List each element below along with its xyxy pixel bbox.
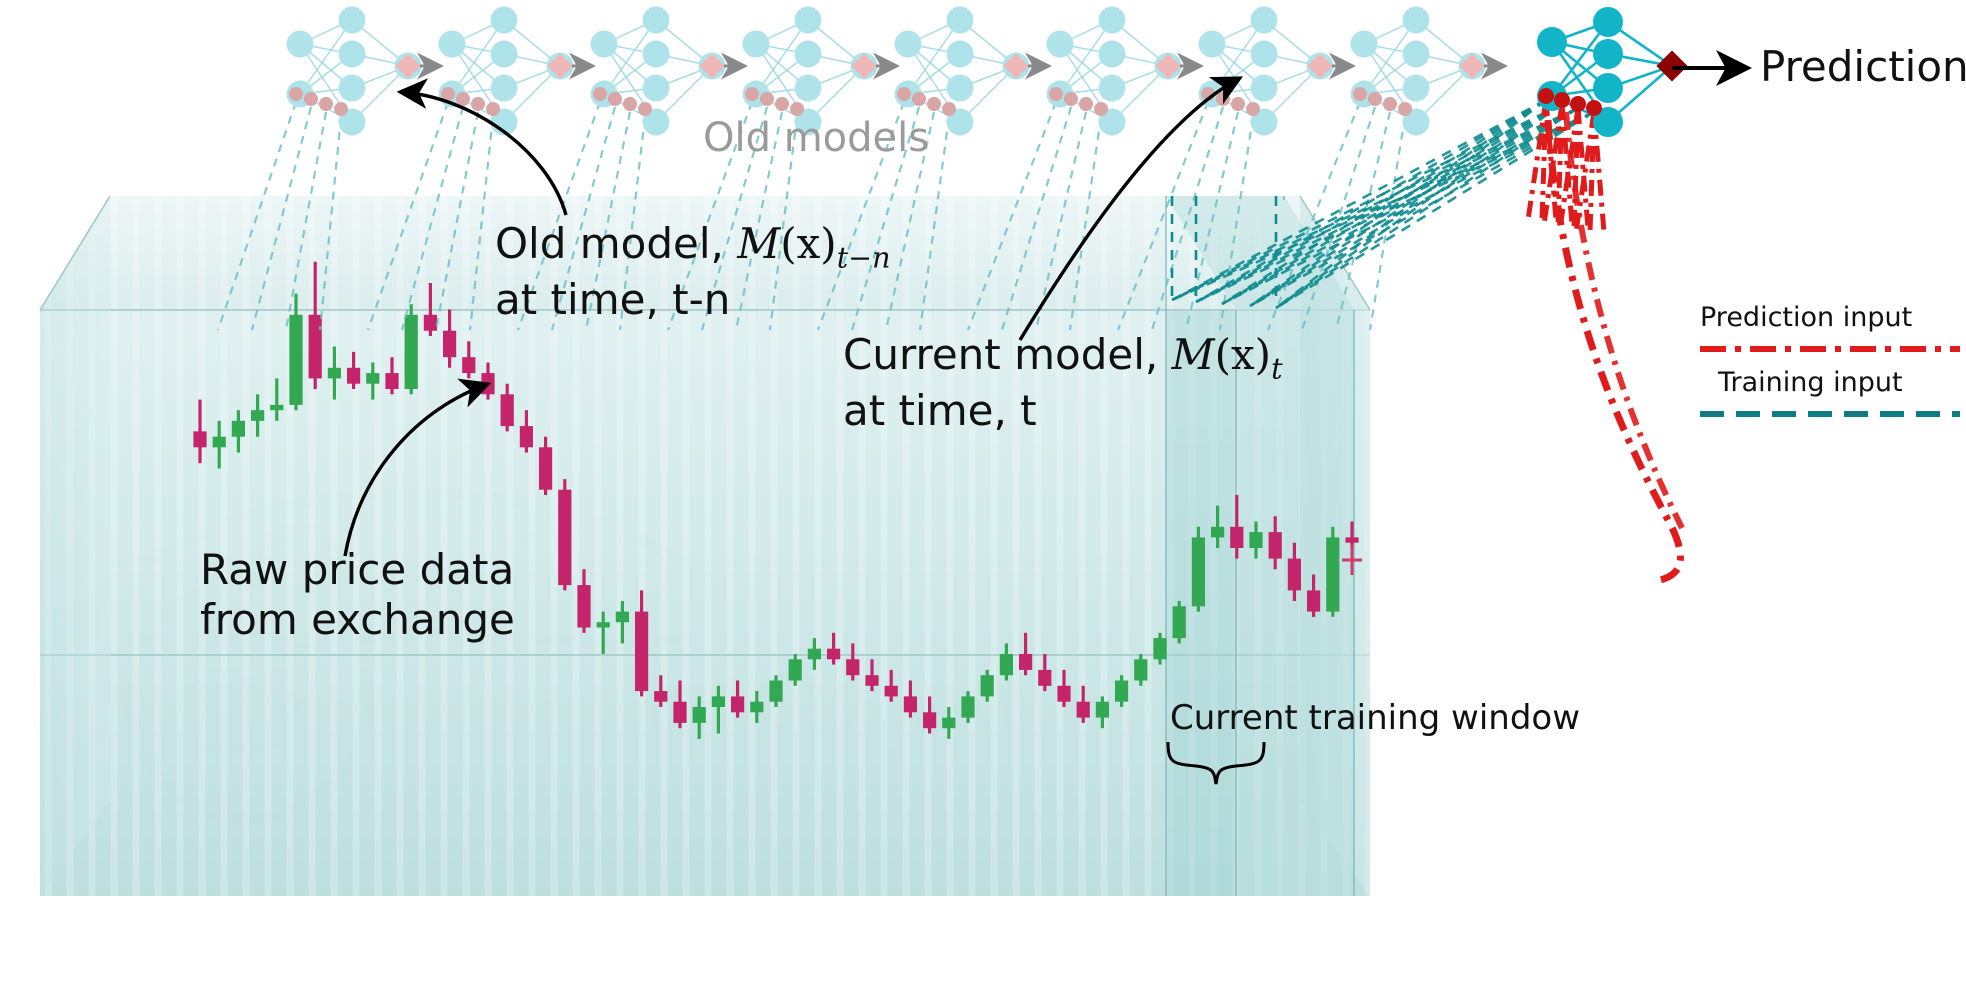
- current-model-annotation: Current model, M(x)t at time, t: [843, 330, 1283, 436]
- raw-price-annotation: Raw price data from exchange: [200, 545, 515, 644]
- current-model-math-fn: M: [1172, 330, 1215, 379]
- freqai-diagram-svg: B FreqAI: [0, 0, 1966, 981]
- old-model-time-line: at time, t-n: [495, 275, 890, 325]
- old-model-text-prefix: Old model,: [495, 219, 737, 268]
- current-model-math-arg: (x): [1215, 330, 1271, 379]
- raw-price-line-2: from exchange: [200, 595, 515, 645]
- current-model-math-sub: t: [1271, 351, 1282, 385]
- prediction-input-lines: [1528, 100, 1682, 580]
- diagram-canvas: B FreqAI: [0, 0, 1966, 981]
- old-models-label: Old models: [703, 115, 929, 162]
- current-model-text-prefix: Current model,: [843, 330, 1172, 379]
- current-model-time-line: at time, t: [843, 386, 1283, 436]
- old-model-annotation: Old model, M(x)t−n at time, t-n: [495, 219, 890, 325]
- training-window-label: Current training window: [1170, 698, 1580, 738]
- legend-label-prediction-input: Prediction input: [1700, 302, 1912, 334]
- prediction-label: Prediction: [1760, 42, 1966, 92]
- legend-label-training-input: Training input: [1718, 367, 1903, 399]
- old-model-math-fn: M: [737, 219, 780, 268]
- old-model-math-sub: t−n: [837, 240, 891, 274]
- raw-price-line-1: Raw price data: [200, 545, 515, 595]
- old-model-math-arg: (x): [780, 219, 836, 268]
